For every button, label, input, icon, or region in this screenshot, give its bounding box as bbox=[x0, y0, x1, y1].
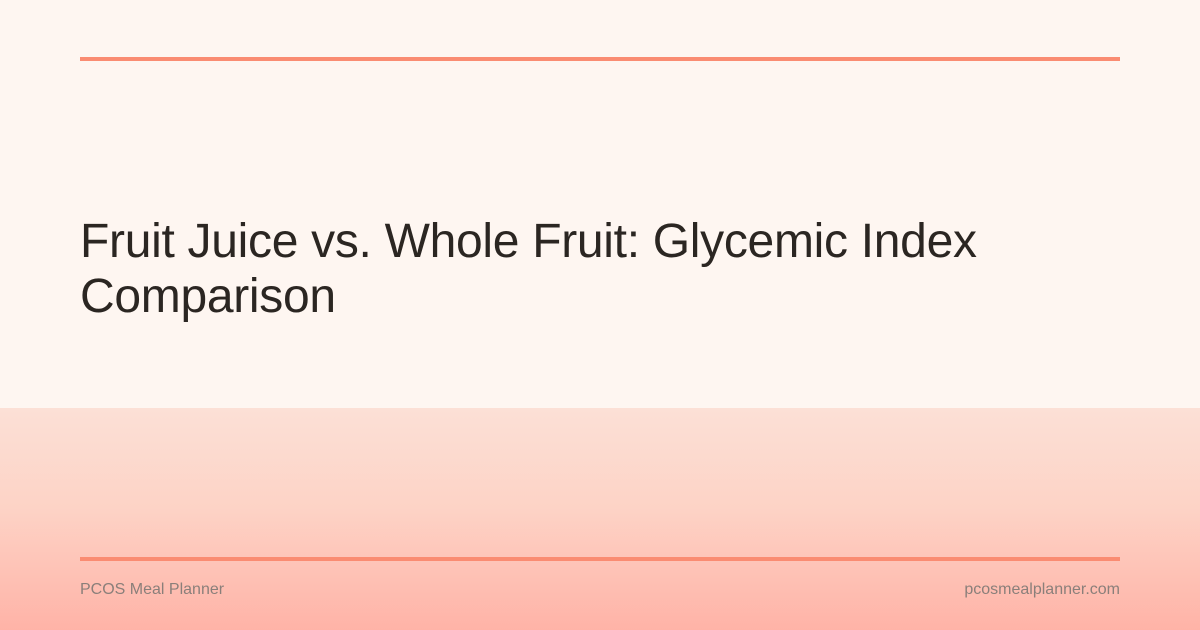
bottom-accent-rule bbox=[80, 557, 1120, 561]
footer: PCOS Meal Planner pcosmealplanner.com bbox=[80, 580, 1120, 600]
headline-block: Fruit Juice vs. Whole Fruit: Glycemic In… bbox=[80, 214, 1080, 324]
footer-site-url: pcosmealplanner.com bbox=[964, 580, 1120, 600]
footer-brand-name: PCOS Meal Planner bbox=[80, 580, 224, 600]
page-title: Fruit Juice vs. Whole Fruit: Glycemic In… bbox=[80, 214, 980, 324]
top-accent-rule bbox=[80, 57, 1120, 61]
background-top-panel bbox=[0, 0, 1200, 408]
social-share-card: Fruit Juice vs. Whole Fruit: Glycemic In… bbox=[0, 0, 1200, 630]
